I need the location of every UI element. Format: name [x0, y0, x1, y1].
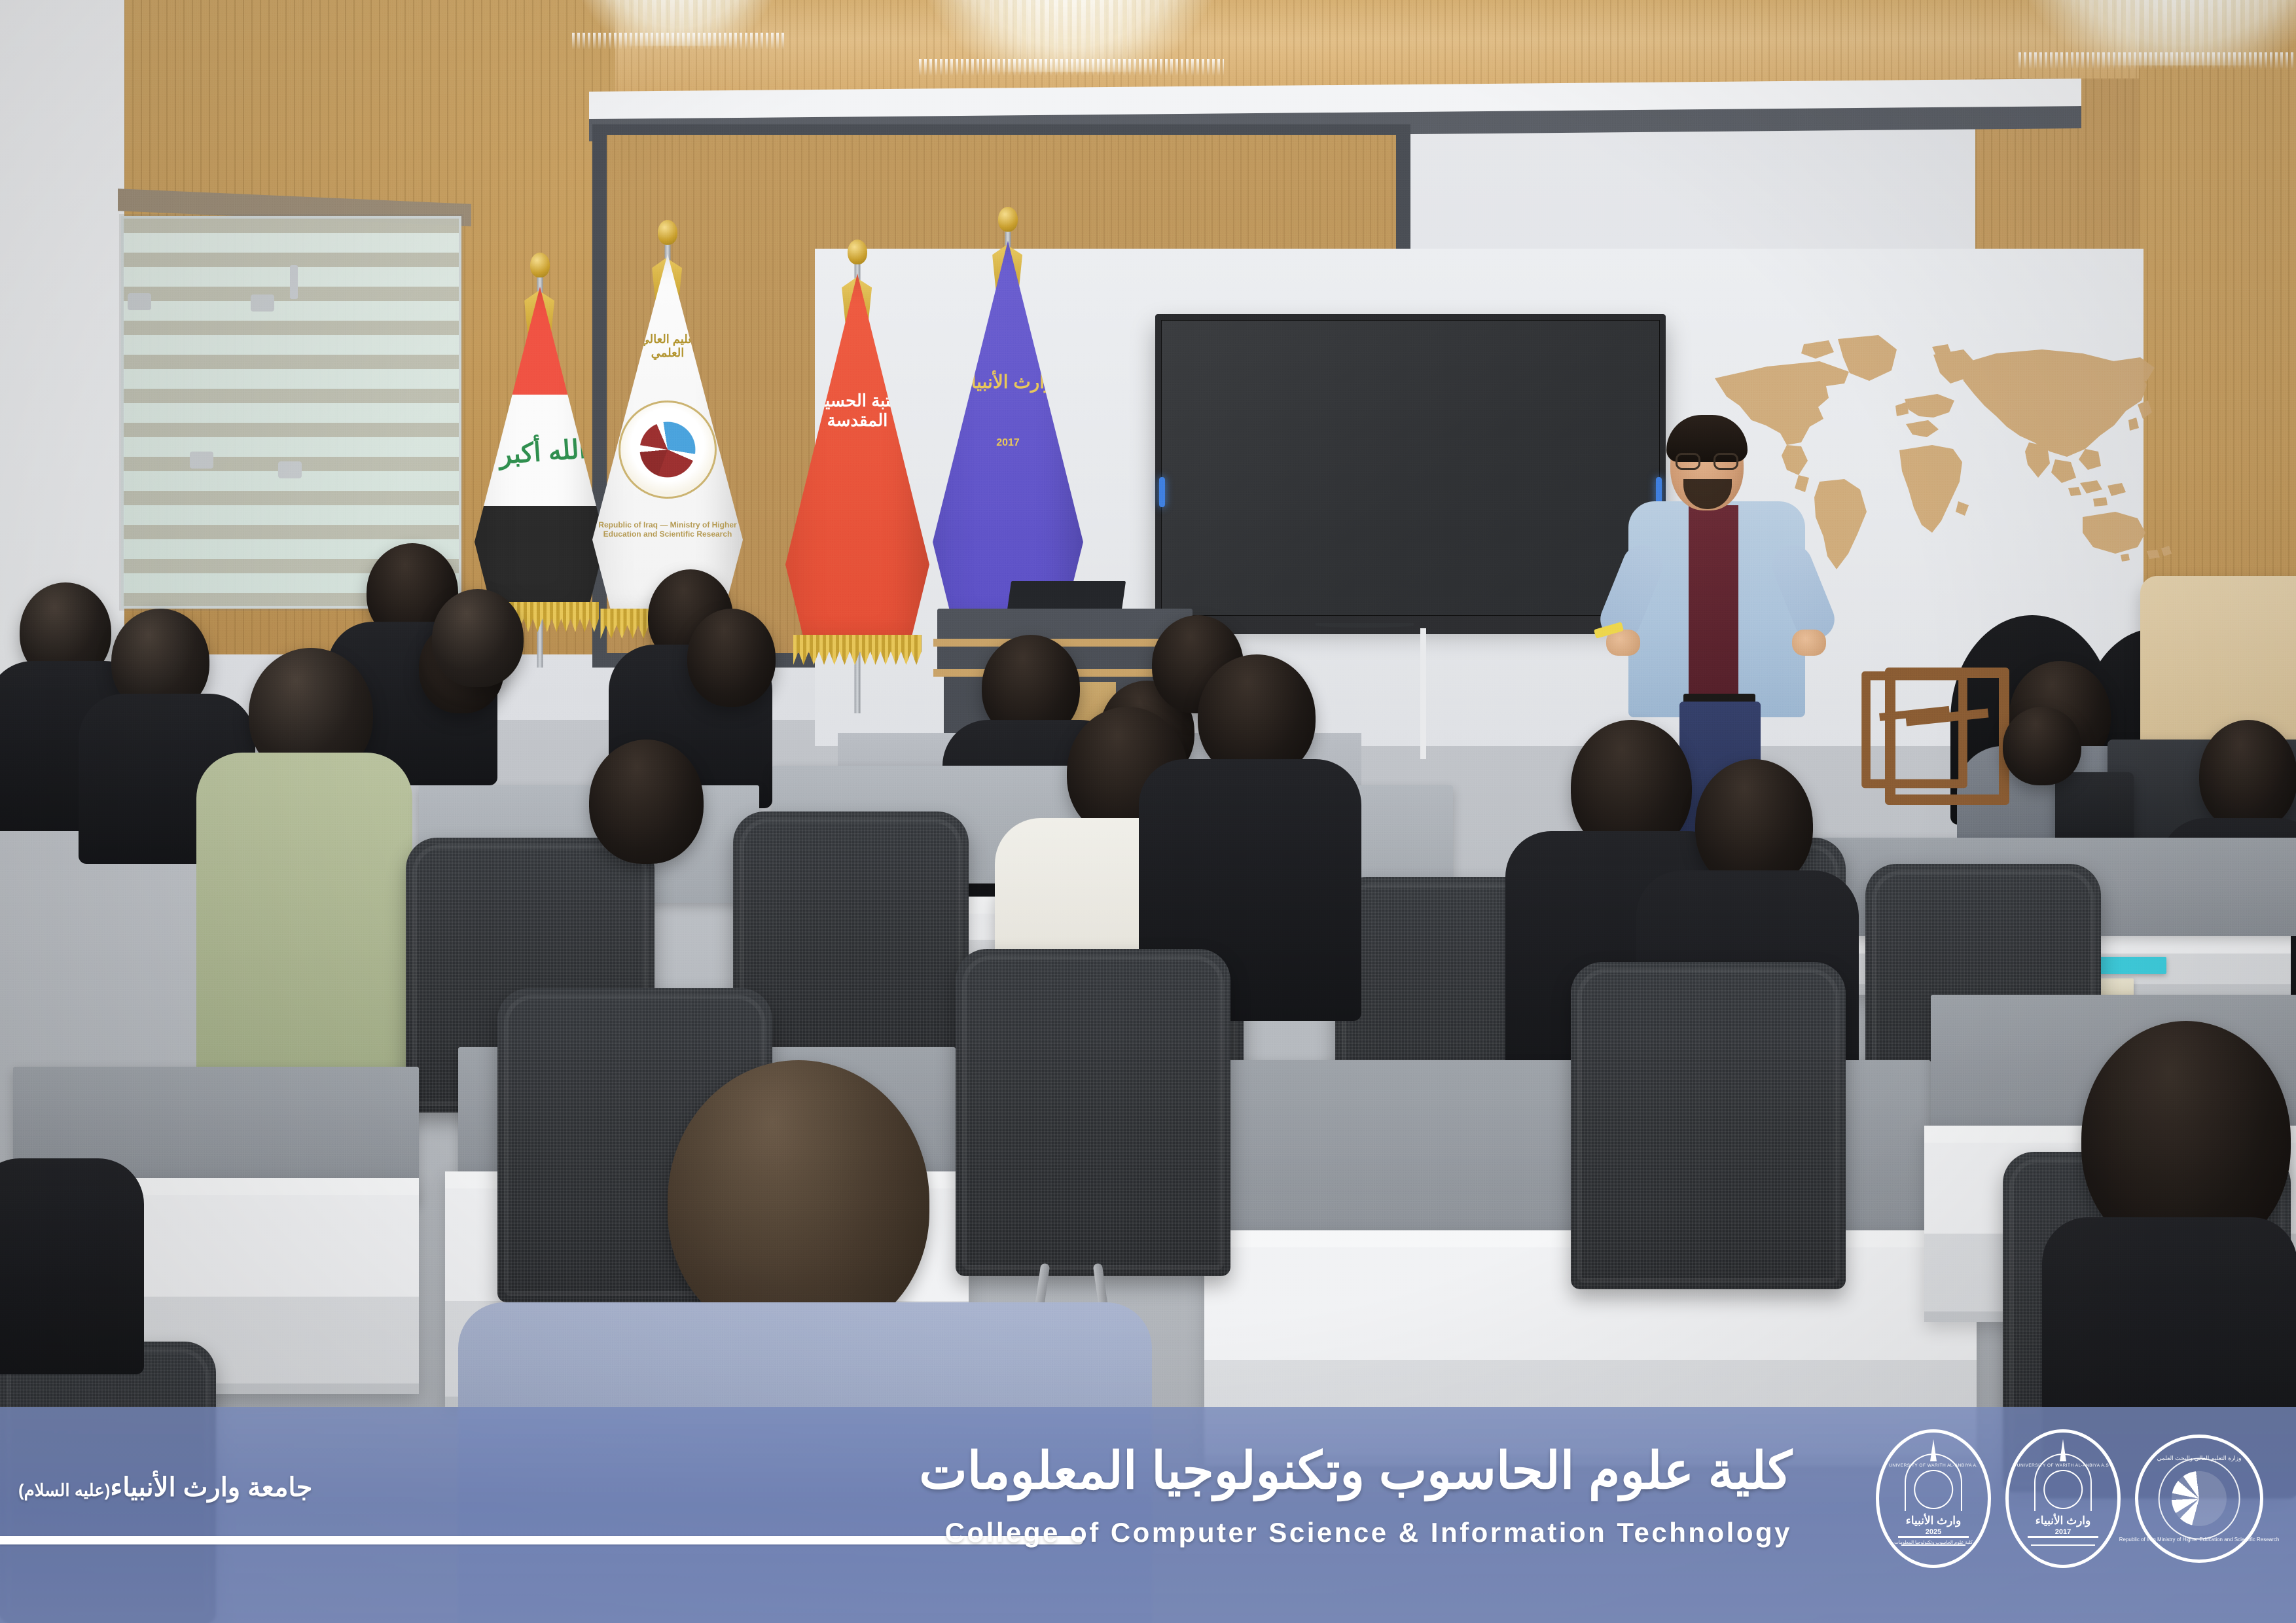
ministry-crest-logo: وزارة التعليم العالي والبحث العلمي Repub…	[2135, 1435, 2263, 1563]
flag-inscription: الله أكبر	[498, 434, 587, 470]
college-crest-logo: UNIVERSITY OF WARITH AL-ANBIYA A. وارث ا…	[1876, 1429, 1991, 1568]
audience-body	[0, 1158, 144, 1374]
flag-cloth: وارث الأنبياء 2017	[933, 241, 1083, 627]
crest-subtitle: كلية علوم الحاسوب وتكنولوجيا المعلومات	[1894, 1540, 1973, 1545]
glass-hinge-mid	[190, 452, 213, 469]
flag-year: 2017	[939, 437, 1077, 449]
foreground-person-head	[668, 1060, 929, 1342]
crest-arc-text: UNIVERSITY OF WARITH AL-ANBIYA A.	[1889, 1463, 1978, 1468]
flag-finial	[998, 207, 1018, 232]
banner-rule	[0, 1536, 1083, 1544]
display-mount-pole	[1420, 628, 1426, 759]
audience-head	[687, 609, 776, 707]
glass-hinge-top	[128, 293, 151, 310]
presenter-shirt	[1689, 505, 1738, 702]
lecture-hall-scene: الله أكبر وزارة التعليم العالي والبحث ال…	[0, 0, 2296, 1623]
ministry-arabic-text: وزارة التعليم العالي والبحث العلمي	[2157, 1455, 2241, 1462]
flag-cloth: العتبة الحسينية المقدسة	[785, 274, 929, 647]
glass-hinge-lock	[251, 294, 274, 312]
audience-head	[432, 589, 524, 687]
flag-finial	[530, 253, 550, 277]
lectern-top	[937, 609, 1193, 639]
flag-cloth: وزارة التعليم العالي والبحث العلمي Repub…	[592, 254, 743, 620]
college-name-arabic: كلية علوم الحاسوب وتكنولوجيا المعلومات	[919, 1441, 1792, 1501]
wooden-chair	[1861, 671, 1967, 789]
flag-finial	[658, 220, 677, 245]
flag-inscription: العتبة الحسينية المقدسة	[792, 391, 923, 431]
flag-inscription: وزارة التعليم العالي والبحث العلمي	[599, 332, 736, 359]
lectern-monitor	[1007, 581, 1126, 610]
audience-head	[2003, 707, 2081, 785]
college-name-english: College of Computer Science & Informatio…	[945, 1517, 1792, 1548]
audience-head	[589, 740, 704, 864]
flag-english-inscription: Republic of Iraq — Ministry of Higher Ed…	[596, 521, 740, 539]
card-cyan	[2094, 957, 2166, 974]
brand-banner: جامعة وارث الأنبياء(عليه السلام) كلية عل…	[0, 1407, 2296, 1623]
ministry-seal	[619, 401, 717, 499]
audience-body	[196, 753, 412, 1093]
flag-finial	[848, 240, 867, 264]
flag-inscription: وارث الأنبياء	[939, 372, 1077, 393]
interactive-display[interactable]	[1155, 314, 1666, 622]
glass-hinge-bottom	[278, 461, 302, 478]
crest-word: وارث الأنبياء	[1906, 1514, 1961, 1527]
eyeglasses-icon	[1676, 453, 1738, 470]
university-crest-logo: UNIVERSITY OF WARITH AL-ANBIYA A.S وارث …	[2005, 1429, 2121, 1568]
crest-year: 2025	[1926, 1528, 1941, 1536]
logo-group: UNIVERSITY OF WARITH AL-ANBIYA A. وارث ا…	[1876, 1429, 2263, 1568]
university-name-arabic: جامعة وارث الأنبياء(عليه السلام)	[18, 1472, 312, 1503]
display-screen	[1161, 320, 1660, 616]
presenter-hand-right	[1792, 630, 1826, 656]
ministry-english-text: Republic of Iraq Ministry of Higher Educ…	[2119, 1537, 2280, 1543]
office-chair	[956, 949, 1230, 1276]
display-cable-loop	[1316, 623, 1414, 628]
crest-year: 2017	[2055, 1528, 2071, 1536]
photo-canvas: الله أكبر وزارة التعليم العالي والبحث ال…	[0, 0, 2296, 1623]
glass-door-handle	[290, 265, 298, 299]
office-chair	[1571, 962, 1846, 1289]
display-led-left	[1159, 477, 1165, 507]
crest-arc-text: UNIVERSITY OF WARITH AL-ANBIYA A.S	[2017, 1463, 2109, 1468]
crest-word: وارث الأنبياء	[2036, 1514, 2090, 1527]
audience-head	[2199, 720, 2296, 831]
